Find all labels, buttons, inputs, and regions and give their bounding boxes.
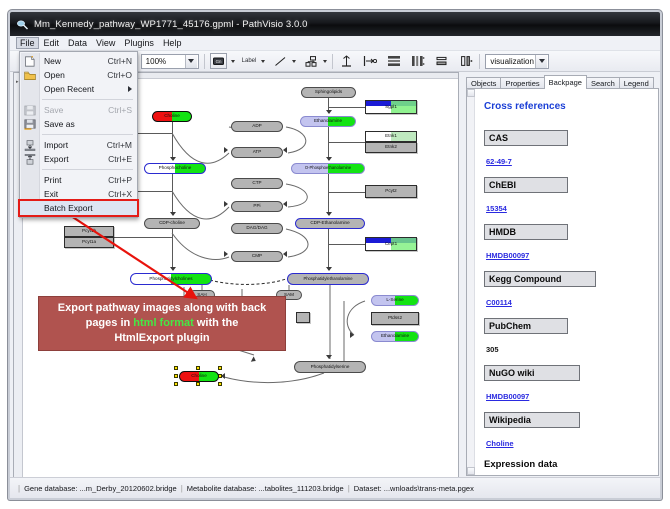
tab-backpage[interactable]: Backpage xyxy=(544,75,587,89)
pathway-gene-unknown-grey[interactable] xyxy=(296,312,310,323)
file-menu-item-new[interactable]: New Ctrl+N xyxy=(20,54,137,68)
file-menu-item-batch-export[interactable]: Batch Export xyxy=(20,201,137,215)
node-label: Etnk1 xyxy=(385,134,397,139)
menu-item-label: Import xyxy=(44,140,107,150)
node-label: Choline xyxy=(191,374,207,379)
arrow-icon xyxy=(170,267,176,271)
xref-key: PubChem xyxy=(484,318,568,334)
same-width-icon[interactable] xyxy=(434,53,450,69)
status-separator: | xyxy=(18,484,20,493)
line-icon[interactable] xyxy=(272,53,288,69)
side-panel: Objects Properties Backpage Search Legen… xyxy=(462,72,659,479)
status-dataset: Dataset: ...wnloads\trans-meta.pgex xyxy=(354,484,474,493)
submenu-arrow-icon xyxy=(128,86,132,92)
open-folder-icon xyxy=(24,70,36,81)
new-document-icon xyxy=(24,56,36,67)
expression-data-heading: Expression data xyxy=(484,459,652,470)
node-label: ADP xyxy=(252,124,261,129)
status-gene-database: Gene database: ...m_Derby_20120602.bridg… xyxy=(24,484,177,493)
node-label: ATP xyxy=(253,150,262,155)
arrow-icon xyxy=(350,332,354,338)
label-dropdown-icon[interactable] xyxy=(261,60,265,63)
node-label: Choline xyxy=(164,114,180,119)
label-button[interactable]: Label xyxy=(241,53,258,69)
arrow-icon xyxy=(326,212,332,216)
pathway-metabolite-choline-top[interactable]: Choline xyxy=(152,111,192,122)
same-height-icon[interactable] xyxy=(458,53,474,69)
node-label: Ethanolamine xyxy=(381,334,409,339)
shape-dropdown-icon[interactable] xyxy=(323,60,327,63)
edge-cdpcholine-pc xyxy=(172,229,173,269)
screenshot-root: Mm_Kennedy_pathway_WP1771_45176.gpml - P… xyxy=(0,0,670,509)
file-menu-item-save[interactable]: Save Ctrl+S xyxy=(20,103,137,117)
node-label: CMP xyxy=(252,254,262,259)
menu-divider-2 xyxy=(42,134,133,135)
chevron-down-icon[interactable] xyxy=(185,55,197,68)
menu-view[interactable]: View xyxy=(92,37,119,49)
pathway-gene-pcyt1b[interactable]: Pcyt1b xyxy=(64,226,114,237)
menu-item-accelerator: Ctrl+S xyxy=(108,105,132,115)
arrow-icon xyxy=(170,157,176,161)
edge-pcyt1 xyxy=(114,237,172,238)
pathway-metabolite-atp[interactable]: ATP xyxy=(231,147,283,158)
pathway-gene-etnk2[interactable]: Etnk2 xyxy=(365,142,417,153)
file-menu-dropdown[interactable]: New Ctrl+N Open Ctrl+O Open Recent Save xyxy=(19,51,138,218)
scroll-up-icon[interactable] xyxy=(467,89,475,97)
node-label: DAG/DAG xyxy=(246,226,267,231)
xref-pubchem: PubChem 305 xyxy=(484,318,652,357)
edge-etnk xyxy=(328,142,366,143)
callout-highlight: html format xyxy=(133,317,194,329)
xref-value-link[interactable]: HMDB00097 xyxy=(486,392,529,401)
pathway-metabolite-phosphatidylcholines[interactable]: Phosphatidylcholines xyxy=(130,273,212,285)
pathway-metabolite-adp[interactable]: ADP xyxy=(231,121,283,132)
window-title-bar: Mm_Kennedy_pathway_WP1771_45176.gpml - P… xyxy=(10,12,660,36)
pathway-metabolite-phosphatidylethanolamine[interactable]: Phosphatidylethanolamine xyxy=(287,273,369,285)
node-label: Ptdss2 xyxy=(388,316,402,321)
node-label: Phosphocholine xyxy=(159,166,192,171)
pathway-metabolite-phosphocholine[interactable]: Phosphocholine xyxy=(144,163,206,174)
xref-value-link[interactable]: Choline xyxy=(486,439,514,448)
node-label: L-Serine xyxy=(386,298,403,303)
cross-references-heading: Cross references xyxy=(484,101,652,112)
edge-phosphocholine-cdpcholine xyxy=(172,174,173,214)
menu-item-label: Exit xyxy=(44,189,108,199)
menu-item-accelerator: Ctrl+N xyxy=(108,56,132,66)
align-left-icon[interactable] xyxy=(362,53,378,69)
node-label: Sgpl1 xyxy=(385,105,397,110)
edge-cept1 xyxy=(328,244,366,245)
shape-icon[interactable] xyxy=(303,53,319,69)
menu-item-label: Batch Export xyxy=(44,203,132,213)
node-label: Phosphatidylethanolamine xyxy=(303,277,352,281)
menu-divider-3 xyxy=(42,169,133,170)
node-label: O-Phosphoethanolamine xyxy=(305,166,351,170)
pathway-metabolite-dag[interactable]: DAG/DAG xyxy=(231,223,283,234)
menu-item-label: Print xyxy=(44,175,108,185)
arrow-icon xyxy=(224,251,228,257)
xref-value-link[interactable]: C00114 xyxy=(486,298,512,307)
menu-plugins[interactable]: Plugins xyxy=(120,37,158,49)
menu-file[interactable]: File xyxy=(16,37,39,49)
node-label: Ethanolamine xyxy=(314,119,342,124)
status-metabolite-database: Metabolite database: ...tabolites_111203… xyxy=(187,484,344,493)
node-label: Etnk2 xyxy=(385,145,397,150)
zoom-value: 100% xyxy=(146,57,185,66)
xref-value-link[interactable]: 62-49-7 xyxy=(486,157,512,166)
xref-key: Wikipedia xyxy=(484,412,580,428)
node-label: Phosphatidylcholines xyxy=(149,277,192,282)
xref-nugo-wiki: NuGO wiki HMDB00097 xyxy=(484,365,652,404)
menu-data[interactable]: Data xyxy=(64,37,91,49)
distribute-vertical-icon[interactable] xyxy=(386,53,402,69)
menu-item-accelerator: Ctrl+M xyxy=(107,140,132,150)
arrow-icon xyxy=(251,356,257,363)
visualization-value: visualization xyxy=(490,57,535,66)
node-label: CDP-choline xyxy=(159,221,185,226)
distribute-horizontal-icon[interactable] xyxy=(410,53,426,69)
file-menu-item-exit[interactable]: Exit Ctrl+X xyxy=(20,187,137,201)
toolbar-divider-3 xyxy=(479,54,480,69)
align-top-icon[interactable] xyxy=(338,53,354,69)
edge-cdpe-pe xyxy=(328,229,329,270)
edge-ope-cdpethanolamine xyxy=(328,174,329,215)
backpage-content: Cross references CAS 62-49-7 ChEBI 15354… xyxy=(476,89,659,475)
xref-key: ChEBI xyxy=(484,177,568,193)
node-label: Cept1 xyxy=(385,242,397,247)
callout-line-2-a: pages in xyxy=(86,317,134,329)
menu-item-accelerator: Ctrl+P xyxy=(108,175,132,185)
pathway-gene-etnk1[interactable]: Etnk1 xyxy=(365,131,417,142)
file-menu-item-import[interactable]: Import Ctrl+M xyxy=(20,138,137,152)
xref-value-link[interactable]: HMDB00097 xyxy=(486,251,529,260)
application-window: Mm_Kennedy_pathway_WP1771_45176.gpml - P… xyxy=(8,10,662,500)
callout-line-3: HtmlExport plugin xyxy=(114,331,209,346)
visualization-combobox[interactable]: visualization xyxy=(485,54,549,69)
side-panel-tabs[interactable]: Objects Properties Backpage Search Legen… xyxy=(466,74,659,89)
xref-chebi: ChEBI 15354 xyxy=(484,177,652,216)
node-label: PPi xyxy=(253,204,260,209)
xref-key: NuGO wiki xyxy=(484,365,580,381)
menu-item-label: Save as xyxy=(44,119,132,129)
datanode-dropdown-icon[interactable] xyxy=(231,60,235,63)
pathway-metabolite-o-phosphoethanolamine[interactable]: O-Phosphoethanolamine xyxy=(291,163,365,174)
arrow-icon xyxy=(224,147,228,153)
arrow-icon xyxy=(326,110,332,114)
node-label: CTP xyxy=(252,181,261,186)
save-as-icon xyxy=(24,119,36,130)
node-label: Pcyt1b xyxy=(82,229,96,234)
edge-pcyt2 xyxy=(328,192,366,193)
export-icon xyxy=(24,154,36,165)
menu-item-accelerator: Ctrl+E xyxy=(108,154,132,164)
node-label: Pcyt2 xyxy=(385,189,397,194)
xref-value: 305 xyxy=(486,345,499,354)
arrow-icon xyxy=(326,157,332,161)
arrow-icon xyxy=(170,212,176,216)
xref-cas: CAS 62-49-7 xyxy=(484,130,652,169)
status-bar: | Gene database: ...m_Derby_20120602.bri… xyxy=(10,477,660,498)
file-menu-item-open[interactable]: Open Ctrl+O xyxy=(20,68,137,82)
menu-item-accelerator: Ctrl+X xyxy=(108,189,132,199)
menu-item-label: Save xyxy=(44,105,108,115)
file-menu-item-save-as[interactable]: Save as xyxy=(20,117,137,131)
pathway-metabolite-cdp-choline[interactable]: CDP-choline xyxy=(144,218,200,229)
xref-key: HMDB xyxy=(484,224,568,240)
edge-choline-phosphocholine xyxy=(172,122,173,159)
xref-hmdb: HMDB HMDB00097 xyxy=(484,224,652,263)
arrow-icon xyxy=(283,251,287,257)
node-label: Phosphatidylserine xyxy=(311,365,350,370)
xref-key: Kegg Compound xyxy=(484,271,596,287)
pathway-gene-sgpl1[interactable]: Sgpl1 xyxy=(365,100,417,114)
menu-item-label: New xyxy=(44,56,108,66)
pathway-metabolite-ethanolamine-2[interactable]: Ethanolamine xyxy=(371,331,419,342)
file-menu-item-export[interactable]: Export Ctrl+E xyxy=(20,152,137,166)
xref-wikipedia: Wikipedia Choline xyxy=(484,412,652,451)
menu-edit[interactable]: Edit xyxy=(40,37,64,49)
status-separator-3: | xyxy=(348,484,350,493)
arrow-icon xyxy=(283,201,287,207)
pathway-metabolite-ppi[interactable]: PPi xyxy=(231,201,283,212)
callout-line-2: pages in html format with the xyxy=(86,316,239,331)
pathway-gene-cept1[interactable]: Cept1 xyxy=(365,237,417,251)
menu-item-accelerator: Ctrl+O xyxy=(107,70,132,80)
toolbar-divider xyxy=(204,54,205,69)
xref-value-link[interactable]: 15354 xyxy=(486,204,507,213)
pathway-metabolite-phosphatidylserine[interactable]: Phosphatidylserine xyxy=(294,361,366,373)
pathway-metabolite-choline-selected[interactable]: Choline xyxy=(179,371,219,382)
pathway-gene-pcyt2[interactable]: Pcyt2 xyxy=(365,185,417,198)
visualization-chevron-down-icon[interactable] xyxy=(535,55,547,68)
menu-help[interactable]: Help xyxy=(159,37,186,49)
menu-item-label: Open xyxy=(44,70,107,80)
pathway-metabolite-ethanolamine[interactable]: Ethanolamine xyxy=(300,116,356,127)
node-label: Sphingolipids xyxy=(315,90,342,95)
pathway-metabolite-sphingolipids[interactable]: Sphingolipids xyxy=(301,87,356,98)
window-title: Mm_Kennedy_pathway_WP1771_45176.gpml - P… xyxy=(34,19,308,30)
pathway-metabolite-cmp[interactable]: CMP xyxy=(231,251,283,262)
save-disk-icon xyxy=(24,105,36,116)
arrow-icon xyxy=(224,201,228,207)
file-menu-item-open-recent[interactable]: Open Recent xyxy=(20,82,137,96)
backpage-scrollbar[interactable] xyxy=(467,89,475,475)
status-separator-2: | xyxy=(181,484,183,493)
edge-ethanolamine-ope xyxy=(328,127,329,160)
node-label: Pcyt1a xyxy=(82,240,96,245)
callout-line-1: Export pathway images along with back xyxy=(58,301,266,316)
line-dropdown-icon[interactable] xyxy=(292,60,296,63)
pathvisio-app-icon xyxy=(16,18,29,31)
toolbar-divider-2 xyxy=(332,54,333,69)
pathway-gene-pcyt1a[interactable]: Pcyt1a xyxy=(64,237,114,248)
arrow-icon xyxy=(326,267,332,271)
menu-divider xyxy=(42,99,133,100)
menu-item-label: Open Recent xyxy=(44,84,128,94)
backpage-panel: Cross references CAS 62-49-7 ChEBI 15354… xyxy=(466,88,659,476)
callout-line-2-b: with the xyxy=(194,317,239,329)
xref-key: CAS xyxy=(484,130,568,146)
edge-sgpl1 xyxy=(328,107,366,108)
import-icon xyxy=(24,140,36,151)
annotation-callout: Export pathway images along with back pa… xyxy=(38,296,286,351)
scroll-down-icon[interactable] xyxy=(467,467,475,475)
xref-kegg-compound: Kegg Compound C00114 xyxy=(484,271,652,310)
datanode-icon[interactable]: Gn xyxy=(210,53,227,69)
pathway-gene-ptdss2[interactable]: Ptdss2 xyxy=(371,312,419,325)
menu-bar[interactable]: File Edit Data View Plugins Help xyxy=(10,36,660,51)
file-menu-item-print[interactable]: Print Ctrl+P xyxy=(20,173,137,187)
arrow-icon xyxy=(283,147,287,153)
pathway-metabolite-cdp-ethanolamine[interactable]: CDP-Ethanolamine xyxy=(295,218,365,229)
pathway-metabolite-ctp[interactable]: CTP xyxy=(231,178,283,189)
arrow-icon xyxy=(326,355,332,359)
node-label: CDP-Ethanolamine xyxy=(310,221,349,226)
pathway-metabolite-l-serine[interactable]: L-Serine xyxy=(371,295,419,306)
svg-text:Gn: Gn xyxy=(215,59,221,64)
menu-item-label: Export xyxy=(44,154,108,164)
zoom-combobox[interactable]: 100% xyxy=(141,54,199,69)
